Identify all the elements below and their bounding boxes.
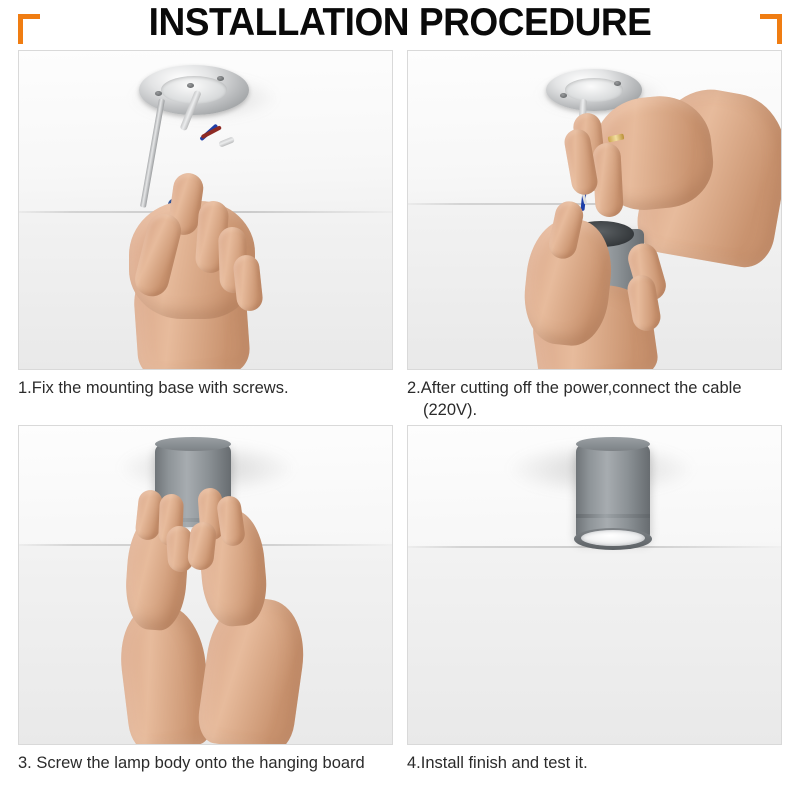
step-2: 2.After cutting off the power,connect th… bbox=[407, 50, 782, 421]
lamp-body bbox=[576, 444, 650, 540]
corner-bracket-right-icon bbox=[760, 14, 782, 44]
screw-right-icon bbox=[614, 81, 621, 86]
step-2-photo bbox=[407, 50, 782, 370]
step-3-photo bbox=[18, 425, 393, 745]
step-2-caption: 2.After cutting off the power,connect th… bbox=[407, 377, 782, 421]
page-title: INSTALLATION PROCEDURE bbox=[20, 1, 780, 45]
lamp-ring bbox=[576, 514, 650, 518]
screw-center-icon bbox=[187, 83, 194, 88]
title-bar: INSTALLATION PROCEDURE bbox=[0, 0, 800, 48]
screw-right-icon bbox=[217, 76, 224, 81]
step-4-caption: 4.Install finish and test it. bbox=[407, 752, 782, 774]
lamp-top-cap bbox=[576, 437, 650, 451]
lower-wall bbox=[408, 548, 781, 744]
step-1-photo bbox=[18, 50, 393, 370]
step-4-photo bbox=[407, 425, 782, 745]
step-1: 1.Fix the mounting base with screws. bbox=[18, 50, 393, 399]
step-3-caption: 3. Screw the lamp body onto the hanging … bbox=[18, 752, 393, 774]
steps-grid: 1.Fix the mounting base with screws. bbox=[0, 48, 800, 800]
lamp-top-cap bbox=[155, 437, 231, 451]
step-1-caption: 1.Fix the mounting base with screws. bbox=[18, 377, 393, 399]
installation-procedure-infographic: INSTALLATION PROCEDURE bbox=[0, 0, 800, 800]
screw-left-icon bbox=[155, 91, 162, 96]
step-3: 3. Screw the lamp body onto the hanging … bbox=[18, 425, 393, 774]
lamp-lens bbox=[581, 530, 645, 546]
step-4: 4.Install finish and test it. bbox=[407, 425, 782, 774]
screw-left-icon bbox=[560, 93, 567, 98]
